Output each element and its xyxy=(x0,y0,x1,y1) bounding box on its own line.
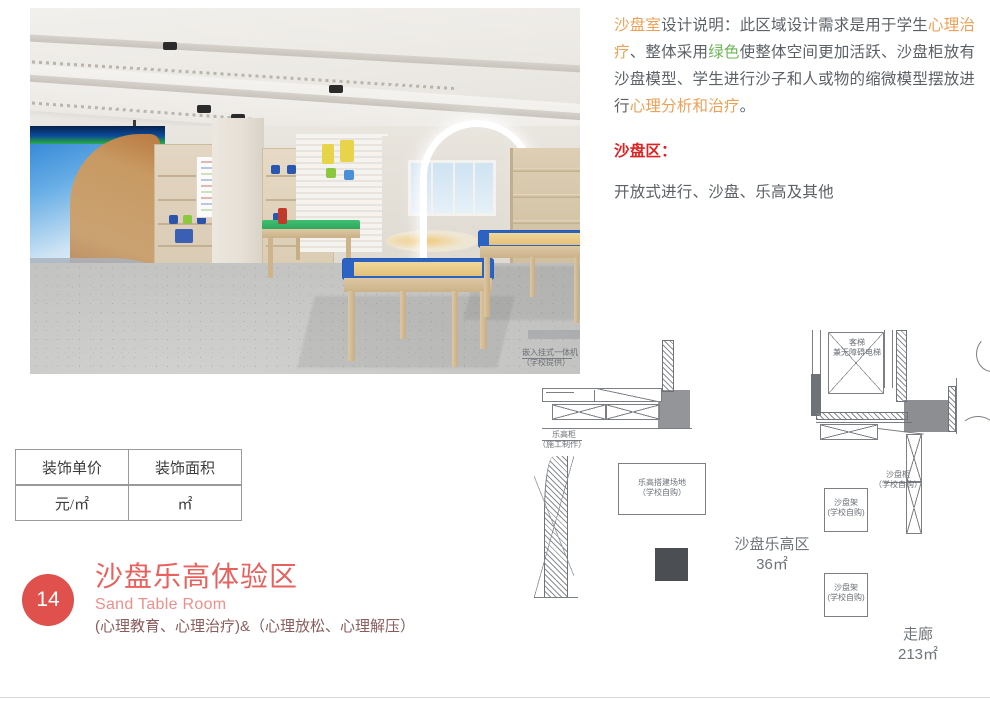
label-elevator-sub: 兼无障碍电梯 xyxy=(833,348,881,357)
wall-line xyxy=(956,378,957,434)
label-elevator: 客梯 兼无障碍电梯 xyxy=(822,338,892,358)
section-body: 开放式进行、沙盘、乐高及其他 xyxy=(614,179,984,206)
section-heading: 沙盘区： xyxy=(614,138,984,165)
room-label-sand-lego-zone-name: 沙盘乐高区 xyxy=(722,535,822,555)
room-number-badge: 14 xyxy=(22,574,74,626)
plan-detail-line xyxy=(594,388,660,402)
desc-text-3: 使整体空间更加活跃 xyxy=(740,44,881,61)
label-sand-cabinet-sub: （学校自购） xyxy=(874,480,922,489)
desc-keyword-green: 绿色 xyxy=(708,44,739,61)
wall-block xyxy=(658,390,690,428)
desc-text-2: 、整体采用 xyxy=(630,44,709,61)
label-elevator-main: 客梯 xyxy=(849,338,865,347)
spec-table: 装饰单价 装饰面积 元/㎡ ㎡ xyxy=(15,449,242,521)
description-paragraph: 沙盘室设计说明：此区域设计需求是用于学生心理治疗、整体采用绿色使整体空间更加活跃… xyxy=(614,12,984,120)
title-text-group: 沙盘乐高体验区 Sand Table Room (心理教育、心理治疗)&（心理放… xyxy=(95,560,415,638)
table-header-row: 装饰单价 装饰面积 xyxy=(16,450,242,486)
label-sand-rack-1-sub: (学校自购) xyxy=(827,508,864,517)
curved-wall-assembly xyxy=(534,456,578,598)
label-sand-rack-2-sub: (学校自购) xyxy=(827,593,864,602)
room-render-photo xyxy=(30,8,580,374)
wall-block xyxy=(811,374,821,416)
cabinet-run-lower-a xyxy=(552,404,606,420)
room-title-block: 14 沙盘乐高体验区 Sand Table Room (心理教育、心理治疗)&（… xyxy=(22,560,415,638)
footer-divider xyxy=(0,697,990,698)
wall-line xyxy=(816,422,912,423)
page-title-english: Sand Table Room xyxy=(95,594,415,615)
wall-hatch xyxy=(662,340,674,392)
wall-block xyxy=(904,400,948,432)
label-lego-build-area-main: 乐高搭建场地 xyxy=(638,478,686,487)
ceiling-spotlight xyxy=(329,85,343,93)
label-sand-rack-2-main: 沙盘架 xyxy=(834,583,858,592)
leader-line xyxy=(522,358,572,359)
door-swing-arc xyxy=(976,336,990,372)
label-sand-cabinet-main: 沙盘柜 xyxy=(886,470,910,479)
label-sand-rack-1: 沙盘架 (学校自购) xyxy=(824,498,868,518)
label-lego-build-area-sub: （学校自购） xyxy=(638,488,686,497)
room-label-corridor: 走廊 213㎡ xyxy=(878,625,958,665)
wall-hatch-right xyxy=(896,330,907,402)
room-label-corridor-name: 走廊 xyxy=(878,625,958,645)
figurine xyxy=(278,208,287,224)
label-lego-build-area: 乐高搭建场地 （学校自购） xyxy=(618,478,706,498)
ceiling-spotlight xyxy=(197,105,211,113)
corridor-cabinet xyxy=(820,424,878,440)
label-lego-cabinet: 乐高柜 （施工制作） xyxy=(538,430,586,450)
cabinet-run-lower-b xyxy=(606,404,660,420)
floor-plan: 嵌入挂式一体机 （学校提供） 乐高柜 （施工制作） 乐高搭建场地 （学校自购） … xyxy=(520,330,990,675)
sand-table-front xyxy=(342,258,494,370)
label-lego-cabinet-main: 乐高柜 xyxy=(552,430,576,439)
table-header-area: 装饰面积 xyxy=(129,450,242,486)
table-cell-unit-price: 元/㎡ xyxy=(16,485,129,521)
page-title: 沙盘乐高体验区 xyxy=(95,560,415,594)
label-sand-rack-2: 沙盘架 (学校自购) xyxy=(824,583,868,603)
plan-solid-block xyxy=(655,548,688,581)
label-embedded-screen-main: 嵌入挂式一体机 xyxy=(522,348,578,357)
plan-detail-line xyxy=(546,392,574,393)
table-row: 元/㎡ ㎡ xyxy=(16,485,242,521)
door-swing-arc xyxy=(960,416,990,444)
label-sand-cabinet: 沙盘柜 （学校自购） xyxy=(872,470,924,490)
wall-line xyxy=(892,330,893,388)
sand-table-rear xyxy=(478,230,580,326)
page-subtitle: (心理教育、心理治疗)&（心理放松、心理解压） xyxy=(95,616,415,638)
section-heading-text: 沙盘区： xyxy=(614,143,677,160)
room-label-corridor-area: 213㎡ xyxy=(878,645,958,665)
room-label-sand-lego-zone-area: 36㎡ xyxy=(722,555,822,575)
plan-artifact xyxy=(528,330,580,339)
design-description: 沙盘室设计说明：此区域设计需求是用于学生心理治疗、整体采用绿色使整体空间更加活跃… xyxy=(614,12,984,212)
label-embedded-screen-sub: （学校提供） xyxy=(522,358,570,367)
desc-text-6: 。 xyxy=(740,98,756,115)
ceiling-spotlight xyxy=(163,42,177,50)
label-sand-rack-1-main: 沙盘架 xyxy=(834,498,858,507)
room-label-sand-lego-zone: 沙盘乐高区 36㎡ xyxy=(722,535,822,575)
desc-keyword-room: 沙盘室 xyxy=(614,17,661,34)
table-header-unit-price: 装饰单价 xyxy=(16,450,129,486)
wall-hatch xyxy=(948,386,956,432)
desc-text-1: 设计说明：此区域设计需求是用于学生 xyxy=(661,17,928,34)
desc-keyword-analysis: 心理分析和治疗 xyxy=(630,98,740,115)
table-cell-area: ㎡ xyxy=(129,485,242,521)
wall-line xyxy=(542,428,692,429)
wall-hatch xyxy=(816,412,908,420)
label-lego-cabinet-sub: （施工制作） xyxy=(538,440,586,449)
